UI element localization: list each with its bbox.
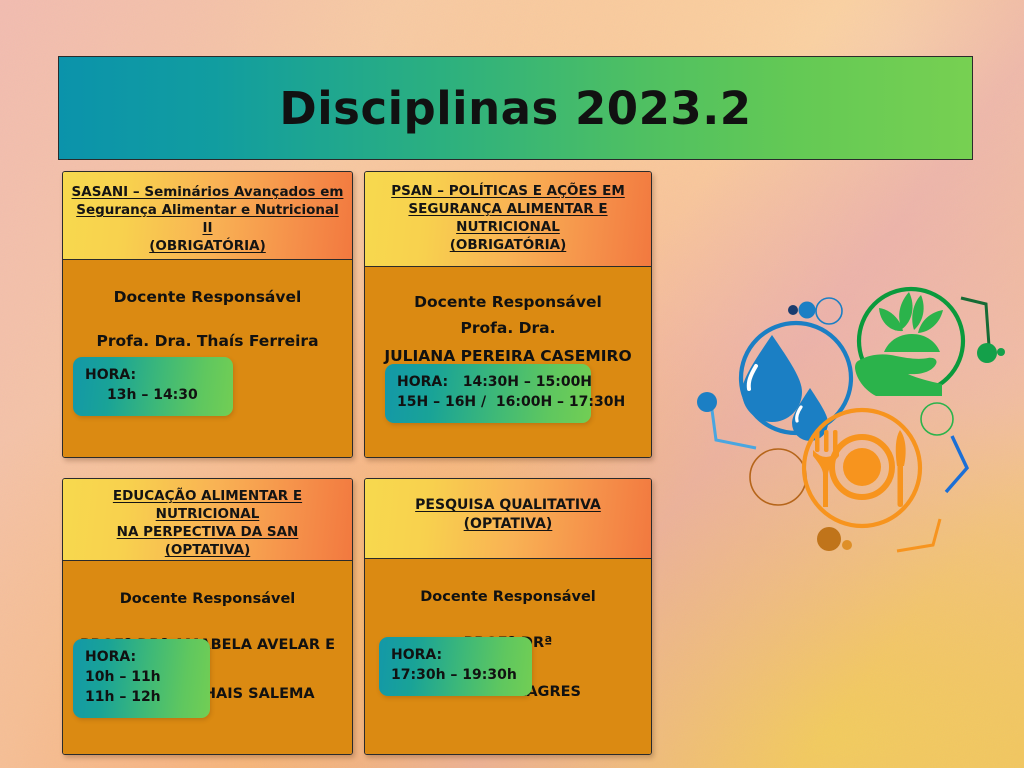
- plate-cutlery-icon: [804, 410, 920, 526]
- outline-circle-green: [921, 403, 953, 435]
- card-title: PESQUISA QUALITATIVA (OPTATIVA): [415, 496, 601, 533]
- docente-label: Docente Responsável: [420, 589, 596, 605]
- page-title: Disciplinas 2023.2: [279, 82, 751, 135]
- hora-box: HORA: 10h – 11h 11h – 12h: [73, 639, 210, 718]
- docente-label: Docente Responsável: [114, 288, 302, 306]
- card-header: PESQUISA QUALITATIVA (OPTATIVA): [365, 479, 651, 559]
- accent-line-lightblue: [712, 410, 756, 448]
- discipline-card-psan[interactable]: PSAN – POLÍTICAS E AÇÕES EM SEGURANÇA AL…: [364, 171, 652, 458]
- water-drop-icon: [741, 323, 851, 441]
- docente-name: Profa. Dra. Thaís Ferreira: [96, 331, 318, 352]
- discipline-card-sasani[interactable]: SASANI – Seminários Avançados em Seguran…: [62, 171, 353, 458]
- dot-green-tiny: [997, 348, 1005, 356]
- docente-label: Docente Responsável: [120, 591, 296, 607]
- dot-brown: [817, 527, 841, 551]
- card-body: Docente Responsável PROFª DRª AMABELA AV…: [63, 561, 352, 754]
- plant-in-hand-icon: [855, 289, 963, 396]
- dot-blue-left: [697, 392, 717, 412]
- hora-value-line1: 10h – 11h: [85, 668, 198, 688]
- hora-box: HORA: 14:30H – 15:00H 15H – 16H / 16:00H…: [385, 364, 591, 423]
- hora-value: 13h – 14:30: [85, 386, 221, 406]
- knife-shape: [896, 430, 906, 507]
- hora-box: HORA: 17:30h – 19:30h: [379, 637, 532, 696]
- card-body: Docente Responsável Profa. Dra. JULIANA …: [365, 267, 651, 457]
- hora-box: HORA: 13h – 14:30: [73, 357, 233, 416]
- accent-line-blue: [946, 436, 967, 492]
- accent-line-orange: [897, 519, 940, 551]
- outline-circle-brown: [750, 449, 806, 505]
- card-title: PSAN – POLÍTICAS E AÇÕES EM SEGURANÇA AL…: [391, 183, 625, 255]
- discipline-card-educacao-alimentar[interactable]: EDUCAÇÃO ALIMENTAR E NUTRICIONAL NA PERP…: [62, 478, 353, 755]
- card-header: PSAN – POLÍTICAS E AÇÕES EM SEGURANÇA AL…: [365, 172, 651, 267]
- title-banner: Disciplinas 2023.2: [58, 56, 973, 160]
- card-title: EDUCAÇÃO ALIMENTAR E NUTRICIONAL NA PERP…: [71, 488, 344, 560]
- hora-value-line1: HORA: 14:30H – 15:00H: [397, 373, 579, 393]
- hora-label: HORA:: [391, 646, 520, 666]
- accent-line-darkgreen: [961, 298, 989, 346]
- docente-label: Docente Responsável: [414, 293, 602, 311]
- hora-value: 17:30h – 19:30h: [391, 666, 520, 686]
- card-header: SASANI – Seminários Avançados em Seguran…: [63, 172, 352, 260]
- dot-green: [977, 343, 997, 363]
- hora-label: HORA:: [85, 366, 221, 386]
- outline-circle-blue: [816, 298, 842, 324]
- dot-navy: [788, 305, 798, 315]
- docente-name-line1: Profa. Dra.: [461, 318, 556, 339]
- fork-shape: [813, 430, 839, 507]
- food-security-illustration: [690, 268, 1010, 568]
- card-title: SASANI – Seminários Avançados em Seguran…: [71, 184, 344, 256]
- card-header: EDUCAÇÃO ALIMENTAR E NUTRICIONAL NA PERP…: [63, 479, 352, 561]
- dot-blue-small: [799, 302, 816, 319]
- card-body: Docente Responsável Profa. Dra. Thaís Fe…: [63, 260, 352, 457]
- dot-brown-tiny: [842, 540, 852, 550]
- card-body: Docente Responsável PROFª DRª FLÁVIA MIL…: [365, 559, 651, 754]
- hora-label: HORA:: [85, 648, 198, 668]
- hora-value-line2: 11h – 12h: [85, 688, 198, 708]
- hora-value-line2: 15H – 16H / 16:00H – 17:30H: [397, 393, 579, 413]
- discipline-card-pesquisa-qualitativa[interactable]: PESQUISA QUALITATIVA (OPTATIVA) Docente …: [364, 478, 652, 755]
